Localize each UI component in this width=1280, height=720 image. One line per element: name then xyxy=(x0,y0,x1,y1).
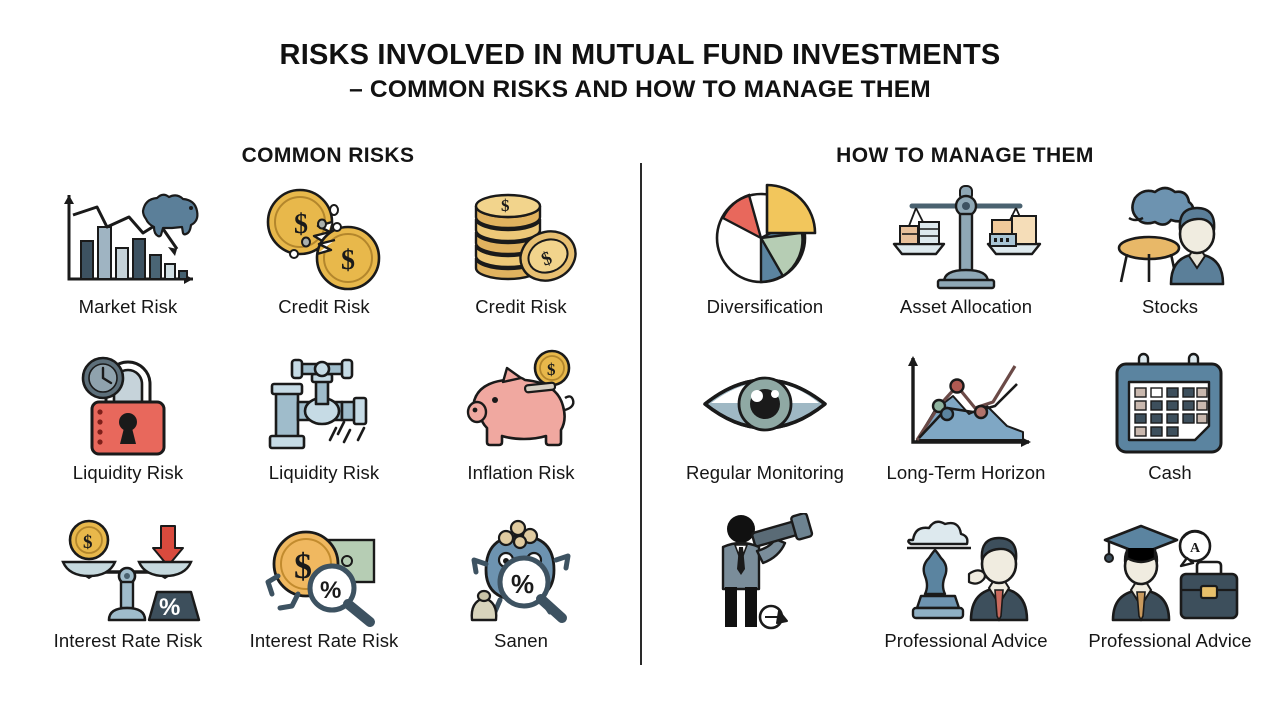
manage-label: Diversification xyxy=(667,296,863,318)
manage-label: Regular Monitoring xyxy=(667,462,863,484)
risk-item-market-risk: Market Risk xyxy=(30,182,226,334)
faucet-tap-icon xyxy=(226,348,422,460)
risk-item-liquidity-risk-1: Liquidity Risk xyxy=(30,348,226,500)
coin-magnifier-percent-icon: $ % xyxy=(226,516,422,628)
risk-label: Market Risk xyxy=(30,296,226,318)
risk-item-interest-rate-risk-1: $ % Interest xyxy=(30,516,226,668)
svg-text:$: $ xyxy=(501,196,510,215)
risk-item-sanen: % Sanen xyxy=(423,516,619,668)
manage-label: Long-Term Horizon xyxy=(868,462,1064,484)
risk-label: Credit Risk xyxy=(423,296,619,318)
balance-scale-percent-icon: $ % xyxy=(30,516,226,628)
manage-item-telescope-outlook xyxy=(667,516,863,668)
risk-label: Interest Rate Risk xyxy=(226,630,422,652)
risk-label: Liquidity Risk xyxy=(30,462,226,484)
manage-label: Asset Allocation xyxy=(868,296,1064,318)
bar-chart-bear-icon xyxy=(30,182,226,294)
manage-label: Stocks xyxy=(1072,296,1268,318)
svg-text:%: % xyxy=(320,577,341,604)
manage-item-long-term-horizon: Long-Term Horizon xyxy=(868,348,1064,500)
manage-label: Professional Advice xyxy=(1072,630,1268,652)
manage-item-cash: Cash xyxy=(1072,348,1268,500)
title-block: RISKS INVOLVED IN MUTUAL FUND INVESTMENT… xyxy=(0,38,1280,106)
risk-label: Liquidity Risk xyxy=(226,462,422,484)
broken-coins-icon: $ $ xyxy=(226,182,422,294)
coin-stack-icon: $ $ xyxy=(423,182,619,294)
manage-label: Professional Advice xyxy=(868,630,1064,652)
manage-item-diversification: Diversification xyxy=(667,182,863,334)
page-subtitle: – COMMON RISKS AND HOW TO MANAGE THEM xyxy=(0,75,1280,106)
risk-label: Interest Rate Risk xyxy=(30,630,226,652)
calendar-icon xyxy=(1072,348,1268,460)
eye-icon xyxy=(667,348,863,460)
piggy-bank-coin-icon: $ xyxy=(423,348,619,460)
svg-text:A: A xyxy=(1190,541,1201,556)
svg-text:$: $ xyxy=(294,209,308,240)
svg-text:%: % xyxy=(511,569,534,599)
svg-text:%: % xyxy=(159,594,180,621)
risk-label: Sanen xyxy=(423,630,619,652)
manage-label: Cash xyxy=(1072,462,1268,484)
graduate-briefcase-icon: A xyxy=(1072,516,1268,628)
risk-item-inflation-risk: $ Inflation Risk xyxy=(423,348,619,500)
balance-scale-assets-icon xyxy=(868,182,1064,294)
page-title: RISKS INVOLVED IN MUTUAL FUND INVESTMENT… xyxy=(0,38,1280,72)
risk-item-credit-risk-2: $ $ Credit Risk xyxy=(423,182,619,334)
risk-label: Inflation Risk xyxy=(423,462,619,484)
infographic-page: RISKS INVOLVED IN MUTUAL FUND INVESTMENT… xyxy=(0,0,1280,720)
manage-item-professional-advice-1: Professional Advice xyxy=(868,516,1064,668)
manage-item-regular-monitoring: Regular Monitoring xyxy=(667,348,863,500)
risk-item-credit-risk-1: $ $ Credit Risk xyxy=(226,182,422,334)
percent-creature-icon: % xyxy=(423,516,619,628)
svg-text:$: $ xyxy=(83,532,93,553)
risk-label: Credit Risk xyxy=(226,296,422,318)
column-divider xyxy=(640,163,642,665)
common-risks-heading: COMMON RISKS xyxy=(242,144,415,168)
svg-text:$: $ xyxy=(547,360,556,379)
line-chart-icon xyxy=(868,348,1064,460)
manage-them-heading: HOW TO MANAGE THEM xyxy=(836,144,1094,168)
pie-chart-icon xyxy=(667,182,863,294)
manage-item-professional-advice-2: A Professional Advice xyxy=(1072,516,1268,668)
padlock-clock-icon xyxy=(30,348,226,460)
risk-item-interest-rate-risk-2: $ % Interest Rate Risk xyxy=(226,516,422,668)
risk-item-liquidity-risk-2: Liquidity Risk xyxy=(226,348,422,500)
svg-text:$: $ xyxy=(341,245,355,276)
advisor-person-icon xyxy=(1072,182,1268,294)
manage-item-asset-allocation: Asset Allocation xyxy=(868,182,1064,334)
businessman-telescope-icon xyxy=(667,516,863,628)
chess-advisor-icon xyxy=(868,516,1064,628)
manage-item-stocks: Stocks xyxy=(1072,182,1268,334)
